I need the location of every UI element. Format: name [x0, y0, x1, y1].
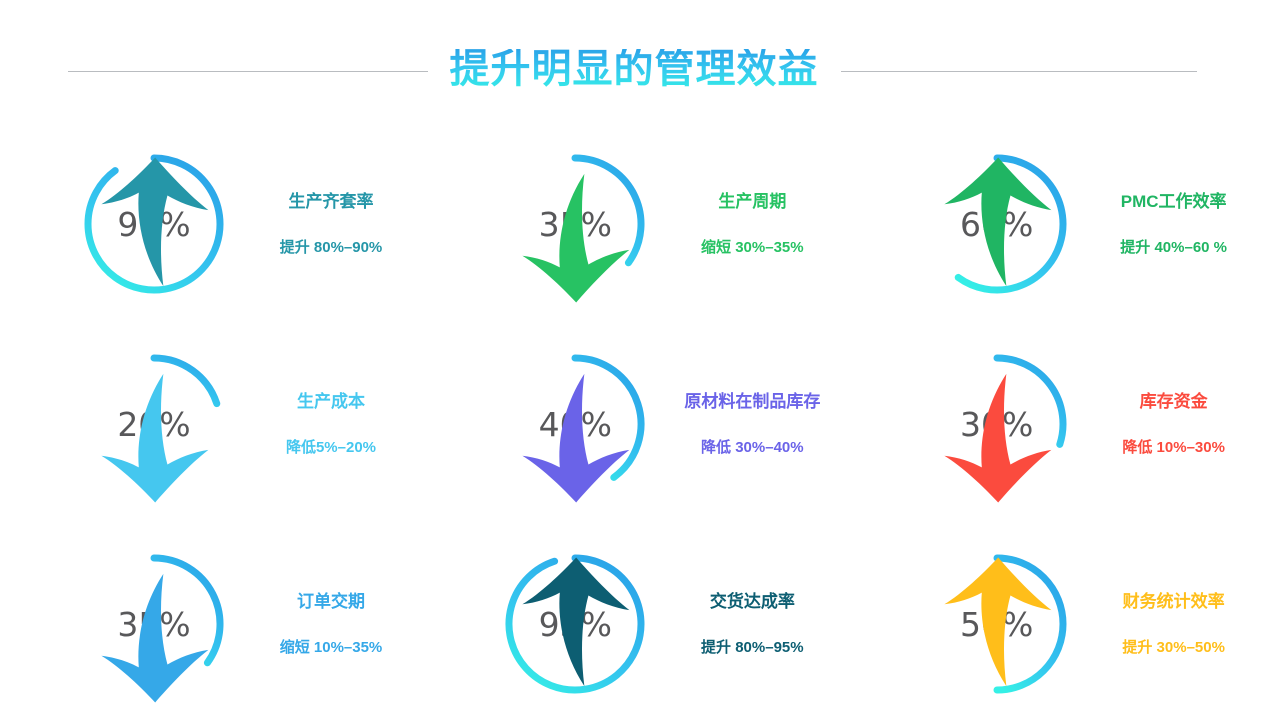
metric-card[interactable]: 35%生产周期缩短 30%–35%	[421, 124, 842, 324]
metric-info: PMC工作效率提升 40%–60 %	[1099, 193, 1249, 255]
metric-subtitle: 提升 30%–50%	[1122, 640, 1225, 655]
header-divider-left	[68, 71, 428, 72]
metric-info: 生产周期缩短 30%–35%	[677, 193, 827, 255]
progress-ring: 90%	[78, 148, 230, 300]
metric-subtitle: 降低5%–20%	[286, 440, 376, 455]
metric-card[interactable]: 35%订单交期缩短 10%–35%	[0, 524, 421, 724]
progress-ring: 60%	[921, 148, 1073, 300]
metric-card[interactable]: 95%交货达成率提升 80%–95%	[421, 524, 842, 724]
metric-info: 交货达成率提升 80%–95%	[677, 593, 827, 655]
metric-subtitle: 提升 80%–90%	[280, 240, 383, 255]
metric-card[interactable]: 30%库存资金降低 10%–30%	[843, 324, 1264, 524]
progress-ring: 40%	[499, 348, 651, 500]
metric-info: 生产成本降低5%–20%	[256, 393, 406, 455]
progress-ring-arc	[88, 158, 220, 290]
metric-title: 生产成本	[297, 393, 365, 410]
metric-card[interactable]: 40%原材料在制品库存降低 30%–40%	[421, 324, 842, 524]
metric-card[interactable]: 50%财务统计效率提升 30%–50%	[843, 524, 1264, 724]
metric-subtitle: 降低 30%–40%	[701, 440, 804, 455]
progress-ring: 20%	[78, 348, 230, 500]
progress-ring-arc	[154, 358, 217, 404]
metric-card[interactable]: 60%PMC工作效率提升 40%–60 %	[843, 124, 1264, 324]
progress-ring-arc	[575, 158, 641, 263]
metric-subtitle: 缩短 10%–35%	[280, 640, 383, 655]
metric-title: PMC工作效率	[1121, 193, 1227, 210]
metric-card[interactable]: 20%生产成本降低5%–20%	[0, 324, 421, 524]
metric-title: 财务统计效率	[1123, 593, 1225, 610]
metric-subtitle: 提升 80%–95%	[701, 640, 804, 655]
metric-title: 库存资金	[1140, 393, 1208, 410]
metric-title: 交货达成率	[710, 593, 795, 610]
progress-ring: 30%	[921, 348, 1073, 500]
metric-title: 订单交期	[297, 593, 365, 610]
progress-ring: 95%	[499, 548, 651, 700]
metric-grid: 90%生产齐套率提升 80%–90%35%生产周期缩短 30%–35%60%PM…	[0, 124, 1264, 724]
metric-title: 原材料在制品库存	[684, 393, 820, 410]
progress-ring-arc	[509, 558, 641, 690]
progress-ring-arc	[575, 358, 641, 477]
metric-info: 订单交期缩短 10%–35%	[256, 593, 406, 655]
progress-ring: 35%	[499, 148, 651, 300]
progress-ring-arc	[997, 558, 1063, 690]
progress-ring-arc	[997, 358, 1063, 444]
metric-title: 生产齐套率	[289, 193, 374, 210]
header-divider-right	[841, 71, 1197, 72]
metric-card[interactable]: 90%生产齐套率提升 80%–90%	[0, 124, 421, 324]
metric-subtitle: 缩短 30%–35%	[701, 240, 804, 255]
metric-subtitle: 提升 40%–60 %	[1120, 240, 1227, 255]
metric-info: 库存资金降低 10%–30%	[1099, 393, 1249, 455]
metric-info: 原材料在制品库存降低 30%–40%	[677, 393, 827, 455]
progress-ring: 35%	[78, 548, 230, 700]
progress-ring-arc	[154, 558, 220, 663]
page-title: 提升明显的管理效益	[450, 49, 819, 93]
metric-subtitle: 降低 10%–30%	[1122, 440, 1225, 455]
progress-ring: 50%	[921, 548, 1073, 700]
metric-info: 财务统计效率提升 30%–50%	[1099, 593, 1249, 655]
metric-info: 生产齐套率提升 80%–90%	[256, 193, 406, 255]
page-header: 提升明显的管理效益	[0, 40, 1264, 102]
progress-ring-arc	[958, 158, 1063, 290]
metric-title: 生产周期	[718, 193, 786, 210]
